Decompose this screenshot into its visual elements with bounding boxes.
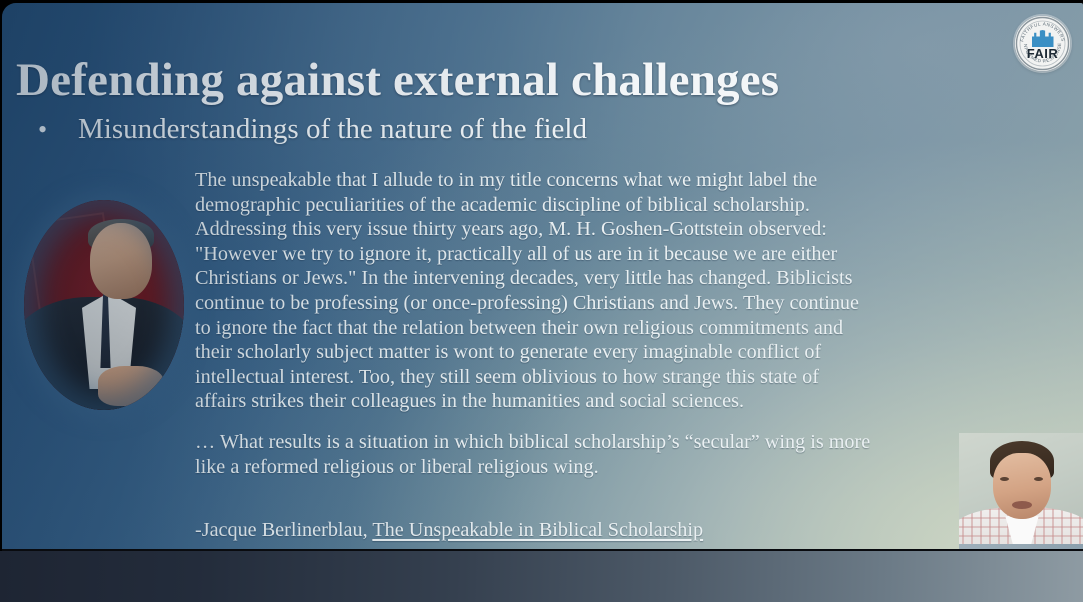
presenter-eye-left xyxy=(1000,477,1009,481)
presenter-mouth xyxy=(1012,501,1032,509)
portrait-vignette xyxy=(24,200,184,410)
quote-paragraph-1: The unspeakable that I allude to in my t… xyxy=(195,168,875,414)
citation-author: -Jacque Berlinerblau, xyxy=(195,519,372,541)
frame-left-edge xyxy=(0,0,2,551)
logo-wordmark: FAIR xyxy=(1015,46,1070,61)
page-title: Defending against external challenges xyxy=(16,56,976,105)
bullet-marker-icon: • xyxy=(38,117,78,143)
frame-top-edge xyxy=(0,0,1083,3)
presenter-face xyxy=(993,453,1051,519)
presentation-slide: Defending against external challenges • … xyxy=(0,0,1083,602)
presenter-eye-right xyxy=(1034,477,1043,481)
slide-canvas: Defending against external challenges • … xyxy=(2,3,1083,549)
fair-logo[interactable]: FAITHFUL ANSWERS INFORMED RESPONSE FAIR xyxy=(1015,16,1070,71)
quote-citation: -Jacque Berlinerblau, The Unspeakable in… xyxy=(195,517,703,543)
presenter-video-overlay[interactable] xyxy=(959,433,1083,549)
citation-work-title: The Unspeakable in Biblical Scholarship xyxy=(372,519,703,541)
quote-paragraph-2: … What results is a situation in which b… xyxy=(195,430,875,479)
slide-bottom-band xyxy=(0,551,1083,602)
bullet-item-label: Misunderstandings of the nature of the f… xyxy=(78,113,587,146)
quote-block: The unspeakable that I allude to in my t… xyxy=(195,168,875,479)
speaker-portrait-oval xyxy=(24,200,184,410)
bullet-item: • Misunderstandings of the nature of the… xyxy=(38,113,587,146)
